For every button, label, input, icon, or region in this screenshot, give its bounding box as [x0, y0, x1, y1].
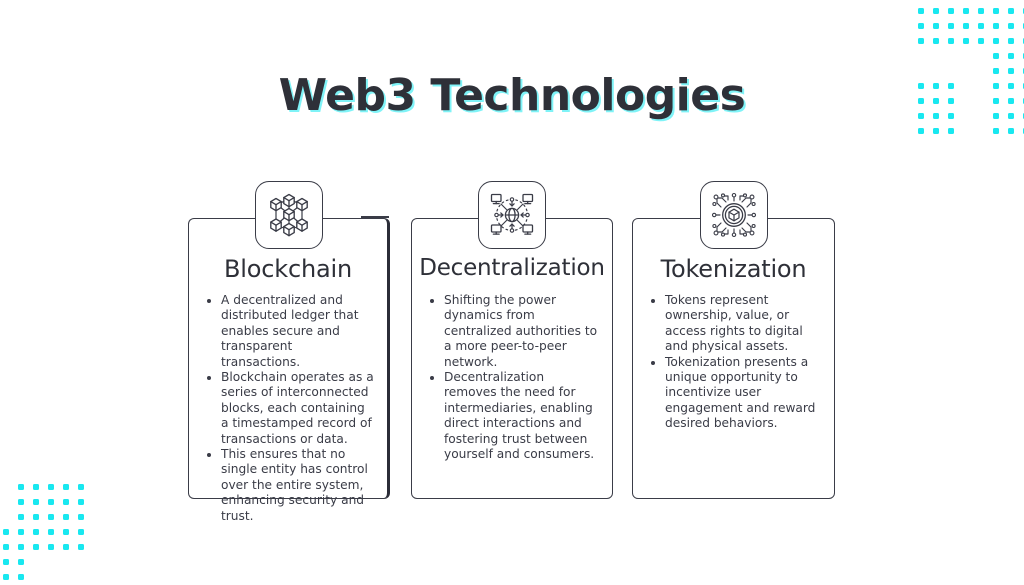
decorative-dot	[48, 544, 54, 550]
decorative-dot	[948, 38, 954, 44]
decorative-dot	[1008, 8, 1014, 14]
decorative-dot	[63, 499, 69, 505]
decorative-dot	[33, 514, 39, 520]
card-blockchain-heading: Blockchain	[189, 255, 387, 283]
decorative-dot	[993, 128, 999, 134]
decentralization-peer-network-icon	[478, 181, 546, 249]
list-item: A decentralized and distributed ledger t…	[221, 293, 375, 370]
card-tokenization[interactable]: Tokenization Tokens represent ownership,…	[632, 218, 835, 499]
blockchain-network-cubes-icon	[255, 181, 323, 249]
list-item: Tokens represent ownership, value, or ac…	[665, 293, 822, 355]
list-item: Blockchain operates as a series of inter…	[221, 370, 375, 447]
card-blockchain-points: A decentralized and distributed ledger t…	[203, 293, 375, 524]
page-title: Web3 Technologies	[279, 70, 746, 121]
decorative-dot	[48, 484, 54, 490]
decorative-dot	[993, 53, 999, 59]
decorative-dot	[933, 38, 939, 44]
decorative-dot	[63, 544, 69, 550]
decorative-dot	[18, 514, 24, 520]
decorative-dot	[48, 529, 54, 535]
decorative-dot	[993, 8, 999, 14]
decorative-dot	[3, 544, 9, 550]
decorative-dot	[978, 8, 984, 14]
card-tokenization-heading: Tokenization	[633, 255, 834, 283]
decorative-dot	[933, 128, 939, 134]
decorative-dot	[33, 529, 39, 535]
card-blockchain[interactable]: Blockchain A decentralized and distribut…	[188, 218, 390, 499]
decorative-dot	[78, 514, 84, 520]
slide-canvas: Web3 Technologies Blockchain A decentral…	[0, 0, 1024, 585]
decorative-dot	[18, 544, 24, 550]
decorative-dot	[933, 8, 939, 14]
tokenization-coin-circuit-icon	[700, 181, 768, 249]
decorative-dot	[963, 8, 969, 14]
decorative-dot	[78, 544, 84, 550]
list-item: Decentralization removes the need for in…	[444, 370, 600, 462]
card-decentralization-points: Shifting the power dynamics from central…	[426, 293, 600, 462]
decorative-dot	[1008, 38, 1014, 44]
decorative-dot	[948, 23, 954, 29]
decorative-dot	[63, 529, 69, 535]
decorative-dot	[3, 559, 9, 565]
decorative-dot	[63, 514, 69, 520]
decorative-dot	[993, 38, 999, 44]
card-tokenization-points: Tokens represent ownership, value, or ac…	[647, 293, 822, 432]
decorative-dot	[33, 484, 39, 490]
decorative-dot	[18, 499, 24, 505]
page-title-container: Web3 Technologies	[0, 70, 1024, 121]
card-decentralization-heading: Decentralization	[412, 255, 612, 281]
decorative-dot	[3, 529, 9, 535]
decorative-dot	[918, 38, 924, 44]
decorative-dot	[933, 23, 939, 29]
decorative-dot	[918, 8, 924, 14]
decorative-dot	[78, 484, 84, 490]
decorative-dot	[978, 38, 984, 44]
card-decentralization[interactable]: Decentralization Shifting the power dyna…	[411, 218, 613, 499]
list-item: This ensures that no single entity has c…	[221, 447, 375, 524]
decorative-dot	[1008, 53, 1014, 59]
decorative-dot	[33, 499, 39, 505]
decorative-dot	[48, 499, 54, 505]
decorative-dot	[948, 8, 954, 14]
decorative-dot	[18, 529, 24, 535]
decorative-dot	[18, 559, 24, 565]
decorative-dot	[33, 544, 39, 550]
decorative-dot	[1008, 23, 1014, 29]
decorative-dot	[78, 529, 84, 535]
decorative-dot	[78, 499, 84, 505]
decorative-dot	[978, 23, 984, 29]
decorative-dot	[18, 484, 24, 490]
decorative-dot	[963, 38, 969, 44]
decorative-dot	[963, 23, 969, 29]
list-item: Shifting the power dynamics from central…	[444, 293, 600, 370]
decorative-dot	[918, 128, 924, 134]
list-item: Tokenization presents a unique opportuni…	[665, 355, 822, 432]
decorative-dot	[18, 574, 24, 580]
decorative-dot	[1008, 128, 1014, 134]
decorative-dot	[48, 514, 54, 520]
decorative-dot	[918, 23, 924, 29]
decorative-dot	[993, 23, 999, 29]
decorative-dot	[948, 128, 954, 134]
decorative-dot	[3, 574, 9, 580]
decorative-dot	[63, 484, 69, 490]
